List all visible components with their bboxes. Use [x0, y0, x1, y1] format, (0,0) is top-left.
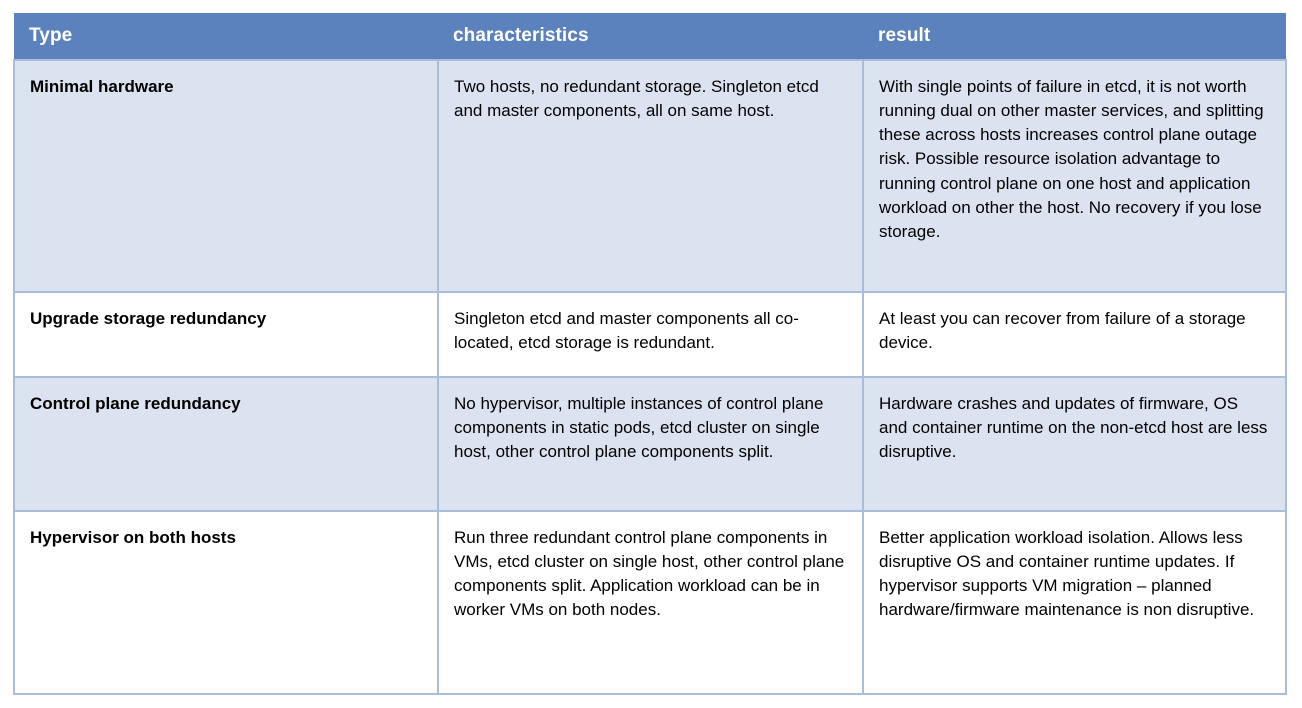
cell-characteristics: Run three redundant control plane compon…	[438, 511, 863, 694]
table-body: Minimal hardware Two hosts, no redundant…	[14, 60, 1286, 694]
cell-type: Hypervisor on both hosts	[14, 511, 438, 694]
cell-type: Minimal hardware	[14, 60, 438, 292]
table-row: Minimal hardware Two hosts, no redundant…	[14, 60, 1286, 292]
cell-type: Upgrade storage redundancy	[14, 292, 438, 377]
comparison-table-container: Type characteristics result Minimal hard…	[13, 13, 1285, 695]
cell-result: Hardware crashes and updates of firmware…	[863, 377, 1286, 511]
table-row: Control plane redundancy No hypervisor, …	[14, 377, 1286, 511]
cell-type: Control plane redundancy	[14, 377, 438, 511]
deployment-options-table: Type characteristics result Minimal hard…	[13, 13, 1287, 695]
page-root: Type characteristics result Minimal hard…	[0, 0, 1302, 708]
cell-characteristics: Two hosts, no redundant storage. Singlet…	[438, 60, 863, 292]
column-header-result[interactable]: result	[863, 13, 1286, 60]
cell-result: With single points of failure in etcd, i…	[863, 60, 1286, 292]
cell-result: Better application workload isolation. A…	[863, 511, 1286, 694]
cell-characteristics: Singleton etcd and master components all…	[438, 292, 863, 377]
column-header-type[interactable]: Type	[14, 13, 438, 60]
column-header-characteristics[interactable]: characteristics	[438, 13, 863, 60]
table-header-row: Type characteristics result	[14, 13, 1286, 60]
cell-result: At least you can recover from failure of…	[863, 292, 1286, 377]
table-header: Type characteristics result	[14, 13, 1286, 60]
cell-characteristics: No hypervisor, multiple instances of con…	[438, 377, 863, 511]
table-row: Hypervisor on both hosts Run three redun…	[14, 511, 1286, 694]
table-row: Upgrade storage redundancy Singleton etc…	[14, 292, 1286, 377]
